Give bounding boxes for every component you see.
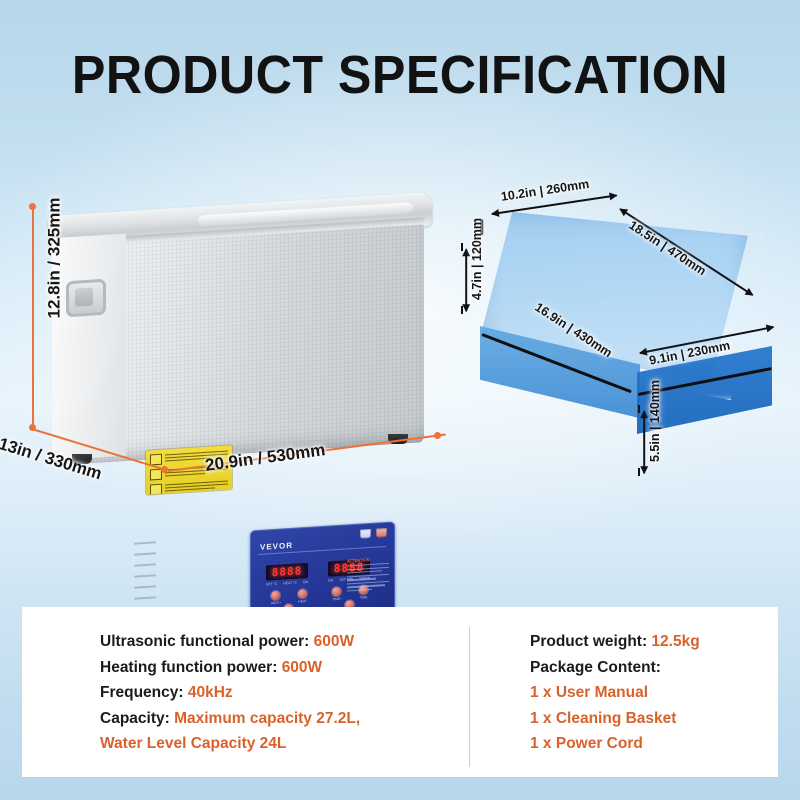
- time-down-label: TIME-: [353, 595, 375, 600]
- arrow-cap: [461, 306, 463, 314]
- machine-handle: [66, 279, 106, 318]
- dimension-dot: [29, 203, 36, 210]
- spec-column-right: Product weight: 12.5kg Package Content: …: [530, 629, 700, 757]
- time-up-button[interactable]: [332, 587, 341, 597]
- spec-line: Product weight: 12.5kg: [530, 629, 700, 655]
- spec-line: Package Content:: [530, 655, 700, 681]
- heat-up-label: HEAT+: [265, 600, 287, 605]
- warning-pictogram-icon: [150, 484, 162, 495]
- arrow-cap: [638, 405, 640, 413]
- basket-inner-height-label: 5.5in | 140mm: [648, 380, 662, 462]
- arrow-cap: [638, 468, 640, 476]
- panel-icons: [360, 528, 387, 539]
- package-item: 1 x Cleaning Basket: [530, 706, 700, 732]
- brand-logo: VEVOR: [260, 541, 293, 552]
- page-title: PRODUCT SPECIFICATION: [28, 44, 772, 106]
- arrow-cap: [461, 243, 463, 251]
- spec-line: Heating function power: 600W: [100, 655, 360, 681]
- basket-outer-height-label: 4.7in | 120mm: [470, 218, 484, 300]
- temperature-display: 8888: [266, 563, 308, 581]
- heat-down-label: HEAT-: [292, 599, 314, 604]
- attention-note: ATTENTION: [347, 556, 389, 594]
- ultrasonic-cleaner-illustration: VEVOR 8888 SET °CHEAT °CON 8888 ONSET MI…: [38, 196, 458, 486]
- height-dimension-line: [32, 206, 34, 428]
- time-up-label: TIME+: [326, 596, 348, 601]
- spec-line: Ultrasonic functional power: 600W: [100, 629, 360, 655]
- heat-up-button[interactable]: [271, 591, 280, 601]
- heater-icon: [376, 528, 387, 538]
- basket-icon: [360, 529, 371, 539]
- dimension-dot: [434, 432, 441, 439]
- product-specification-page: PRODUCT SPECIFICATION VEVOR 8888: [0, 0, 800, 800]
- spec-line: Water Level Capacity 24L: [100, 731, 360, 757]
- heat-down-button[interactable]: [298, 589, 307, 599]
- temperature-display-units: SET °CHEAT °CON: [266, 580, 308, 587]
- specification-panel: Ultrasonic functional power: 600W Heatin…: [22, 607, 778, 777]
- package-item: 1 x User Manual: [530, 680, 700, 706]
- basket-inner-height-arrow: [643, 411, 645, 473]
- machine-height-label: 12.8in / 325mm: [44, 198, 64, 319]
- package-item: 1 x Power Cord: [530, 731, 700, 757]
- basket-height-arrow: [465, 249, 467, 311]
- column-divider: [469, 627, 470, 767]
- spec-line: Frequency: 40kHz: [100, 680, 360, 706]
- spec-line: Capacity: Maximum capacity 27.2L,: [100, 706, 360, 732]
- spec-column-left: Ultrasonic functional power: 600W Heatin…: [100, 629, 360, 757]
